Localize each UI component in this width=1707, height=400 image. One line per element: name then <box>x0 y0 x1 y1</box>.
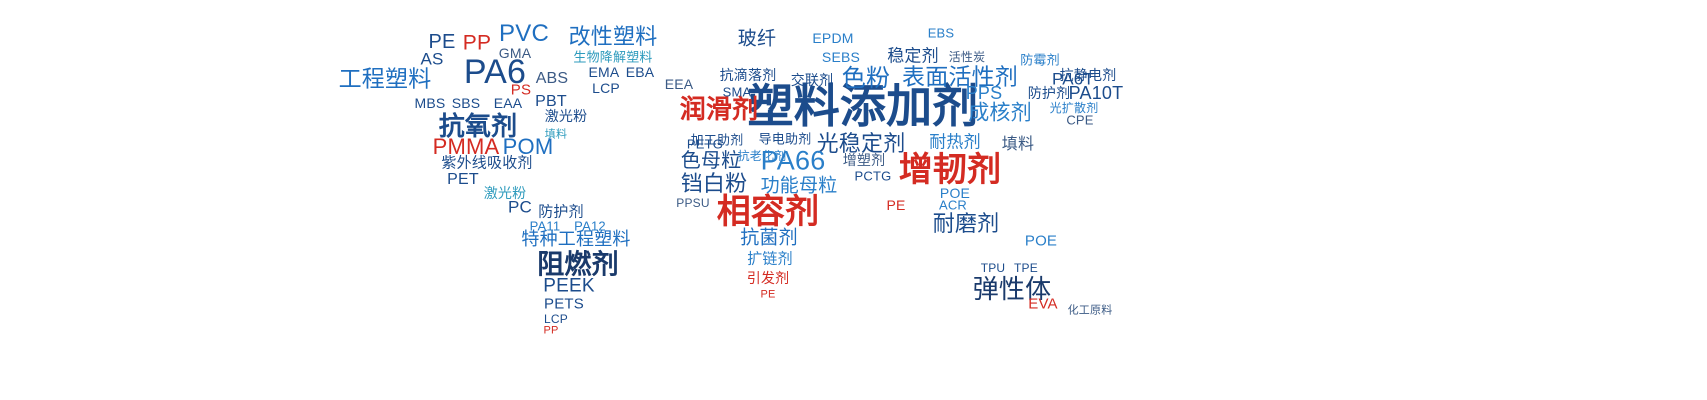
word-cloud-term[interactable]: 玻纤 <box>738 30 776 49</box>
word-cloud-term[interactable]: 生物降解塑料 <box>573 52 652 65</box>
word-cloud-term[interactable]: 增韧剂 <box>899 153 1002 187</box>
word-cloud-term[interactable]: TPE <box>1014 262 1038 274</box>
word-cloud-term[interactable]: 增塑剂 <box>843 154 886 168</box>
word-cloud-term[interactable]: PA11 <box>530 220 561 233</box>
word-cloud-term[interactable]: PA10T <box>1069 84 1124 102</box>
word-cloud-term[interactable]: 工程塑料 <box>339 69 432 92</box>
word-cloud-term[interactable]: ABS <box>536 71 569 87</box>
word-cloud-term[interactable]: PMMA <box>433 136 500 158</box>
word-cloud-term[interactable]: TPU <box>981 262 1006 274</box>
word-cloud-term[interactable]: POE <box>1025 234 1057 249</box>
word-cloud-term[interactable]: 抗滴落剂 <box>720 69 777 83</box>
word-cloud-term[interactable]: 抗菌剂 <box>740 229 798 248</box>
word-cloud-term[interactable]: 扩链剂 <box>747 252 793 267</box>
word-cloud-term[interactable]: 相容剂 <box>717 195 820 229</box>
word-cloud-term[interactable]: SMA <box>723 86 752 99</box>
word-cloud-term[interactable]: 阻燃剂 <box>537 252 619 279</box>
word-cloud-term[interactable]: PA66 <box>761 148 826 175</box>
word-cloud-term[interactable]: EAA <box>494 96 523 110</box>
word-cloud-term[interactable]: GMA <box>499 46 532 60</box>
word-cloud-term[interactable]: POM <box>503 136 554 158</box>
word-cloud-term[interactable]: PVC <box>499 22 549 46</box>
word-cloud-term[interactable]: 填料 <box>1002 136 1034 152</box>
word-cloud-term[interactable]: 铛白粉 <box>681 174 748 196</box>
word-cloud-term[interactable]: PETS <box>544 297 584 312</box>
word-cloud-term[interactable]: 耐磨剂 <box>933 214 1000 236</box>
word-cloud-term[interactable]: PBT <box>535 94 567 110</box>
word-cloud-term[interactable]: MBS <box>415 96 446 110</box>
word-cloud-term[interactable]: EBA <box>626 65 655 79</box>
word-cloud-term[interactable]: PCTG <box>855 170 892 183</box>
word-cloud-term[interactable]: 耐热剂 <box>929 135 981 152</box>
word-cloud-term[interactable]: 激光粉 <box>545 110 588 124</box>
word-cloud-term[interactable]: PEEK <box>543 277 595 296</box>
word-cloud-term[interactable]: SBS <box>452 96 481 110</box>
word-cloud-term[interactable]: PA12 <box>574 220 606 233</box>
word-cloud-term[interactable]: PP <box>543 326 558 337</box>
word-cloud-term[interactable]: SEBS <box>822 50 860 64</box>
wordcloud-canvas: 塑料添加剂增韧剂相容剂润滑剂阻燃剂弹性体表面活性剂工程塑料抗氧剂光稳定剂改性塑料… <box>0 0 1707 400</box>
word-cloud-term[interactable]: 润滑剂 <box>680 97 759 123</box>
word-cloud-term[interactable]: PPS <box>966 84 1003 102</box>
word-cloud-term[interactable]: CPE <box>1066 114 1093 127</box>
word-cloud-term[interactable]: 特种工程塑料 <box>521 231 630 249</box>
word-cloud-term[interactable]: 交联剂 <box>791 74 834 88</box>
word-cloud-term[interactable]: PC <box>508 199 532 216</box>
word-cloud-term[interactable]: PP <box>463 33 491 54</box>
word-cloud-term[interactable]: EEA <box>665 77 694 91</box>
word-cloud-term[interactable]: EPDM <box>812 31 853 45</box>
word-cloud-term[interactable]: 化工原料 <box>1068 305 1113 316</box>
word-cloud-term[interactable]: 稳定剂 <box>887 49 939 66</box>
word-cloud-term[interactable]: 色粉 <box>842 66 890 90</box>
word-cloud-term[interactable]: 色母粒 <box>681 150 742 170</box>
word-cloud-term[interactable]: PE <box>886 198 905 212</box>
word-cloud-term[interactable]: PET <box>447 172 479 188</box>
word-cloud-term[interactable]: 活性炭 <box>949 51 986 63</box>
word-cloud-term[interactable]: LCP <box>544 313 568 325</box>
word-cloud-term[interactable]: 成核剂 <box>968 103 1032 124</box>
word-cloud-term[interactable]: EVA <box>1028 297 1058 312</box>
word-cloud-term[interactable]: PPSU <box>676 197 709 209</box>
word-cloud-term[interactable]: 防护剂 <box>1028 87 1071 101</box>
word-cloud-term[interactable]: PETG <box>687 138 723 151</box>
word-cloud-term[interactable]: 防护剂 <box>538 205 584 220</box>
word-cloud-term[interactable]: PE <box>760 290 775 301</box>
word-cloud-term[interactable]: ACR <box>939 199 967 212</box>
word-cloud-term[interactable]: 功能母粒 <box>761 177 838 196</box>
word-cloud-term[interactable]: AS <box>420 51 443 68</box>
word-cloud-term[interactable]: 防霉剂 <box>1020 55 1060 68</box>
word-cloud-term[interactable]: 改性塑料 <box>569 27 658 49</box>
word-cloud-term[interactable]: EMA <box>589 65 620 79</box>
word-cloud-term[interactable]: 引发剂 <box>747 272 790 286</box>
word-cloud-term[interactable]: LCP <box>592 81 620 95</box>
word-cloud-term[interactable]: EBS <box>928 27 955 40</box>
